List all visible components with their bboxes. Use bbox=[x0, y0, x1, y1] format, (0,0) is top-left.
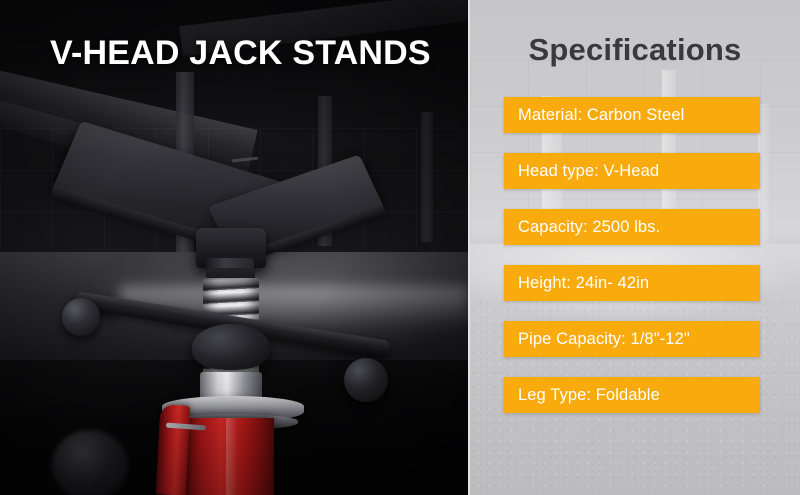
handle-ball-right bbox=[344, 358, 388, 402]
spec-row-material: Material: Carbon Steel bbox=[504, 97, 760, 133]
spec-row-height: Height: 24in- 42in bbox=[504, 265, 760, 301]
specifications-panel: Specifications Material: Carbon Steel He… bbox=[468, 0, 800, 495]
spec-row-text: Height: 24in- 42in bbox=[518, 274, 649, 293]
specifications-list: Material: Carbon Steel Head type: V-Head… bbox=[504, 97, 760, 413]
product-banner: V-HEAD JACK STANDS Specifications Materi… bbox=[0, 0, 800, 495]
specifications-heading: Specifications bbox=[470, 32, 800, 68]
jack-stand-product bbox=[0, 0, 468, 495]
page-title: V-HEAD JACK STANDS bbox=[50, 36, 431, 72]
post-highlight bbox=[226, 418, 238, 495]
handle-hub bbox=[192, 324, 270, 370]
spec-row-text: Pipe Capacity: 1/8"-12" bbox=[518, 330, 690, 349]
spec-row-text: Capacity: 2500 lbs. bbox=[518, 218, 660, 237]
spec-row-text: Head type: V-Head bbox=[518, 162, 659, 181]
spec-row-text: Material: Carbon Steel bbox=[518, 106, 684, 125]
spec-row-leg-type: Leg Type: Foldable bbox=[504, 377, 760, 413]
spec-row-pipe-capacity: Pipe Capacity: 1/8"-12" bbox=[504, 321, 760, 357]
spec-row-capacity: Capacity: 2500 lbs. bbox=[504, 209, 760, 245]
foreground-blur-object bbox=[52, 430, 128, 495]
handle-ball-left bbox=[62, 298, 100, 336]
spec-row-head-type: Head type: V-Head bbox=[504, 153, 760, 189]
red-foldable-leg-bracket bbox=[156, 404, 191, 495]
product-photo-panel: V-HEAD JACK STANDS bbox=[0, 0, 468, 495]
spec-row-text: Leg Type: Foldable bbox=[518, 386, 660, 405]
